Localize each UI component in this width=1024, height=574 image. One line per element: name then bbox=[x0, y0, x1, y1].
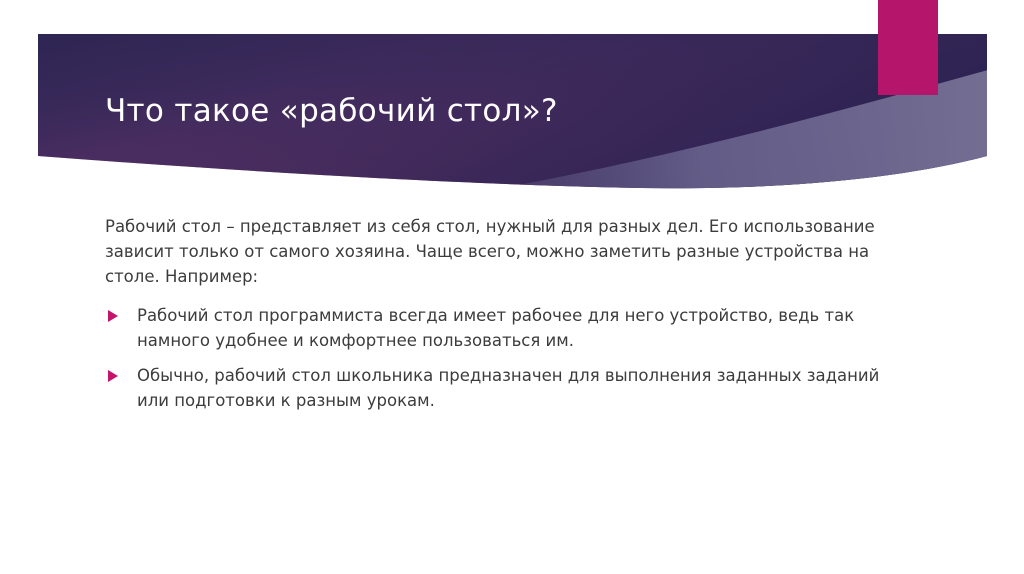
list-item: Обычно, рабочий стол школьника предназна… bbox=[105, 363, 895, 413]
bullet-list: Рабочий стол программиста всегда имеет р… bbox=[105, 303, 895, 413]
presentation-slide: Что такое «рабочий стол»? Рабочий стол –… bbox=[0, 0, 1024, 574]
triangle-bullet-icon bbox=[108, 310, 118, 322]
slide-body: Рабочий стол – представляет из себя стол… bbox=[105, 214, 895, 423]
list-item: Рабочий стол программиста всегда имеет р… bbox=[105, 303, 895, 353]
slide-title: Что такое «рабочий стол»? bbox=[105, 92, 865, 130]
list-item-text: Обычно, рабочий стол школьника предназна… bbox=[137, 366, 879, 410]
intro-paragraph: Рабочий стол – представляет из себя стол… bbox=[105, 214, 895, 289]
accent-bar bbox=[878, 0, 938, 95]
list-item-text: Рабочий стол программиста всегда имеет р… bbox=[137, 306, 854, 350]
triangle-bullet-icon bbox=[108, 370, 118, 382]
